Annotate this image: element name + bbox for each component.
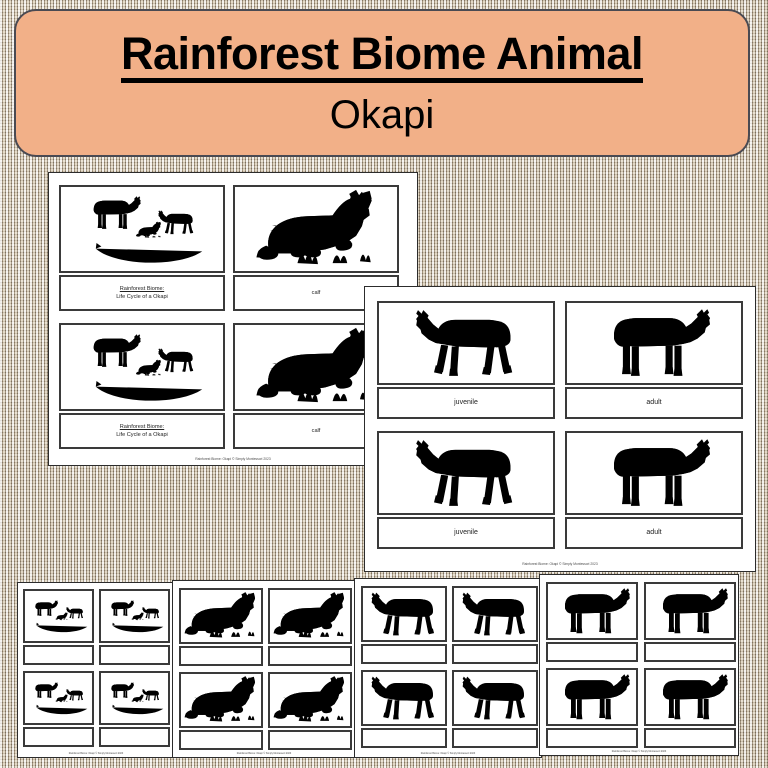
card-illustration-area	[567, 303, 741, 383]
card-illustration-area	[25, 591, 92, 641]
okapi-juvenile-illustration	[363, 588, 445, 640]
card-illustration-area	[181, 590, 261, 642]
picture-card[interactable]	[59, 185, 225, 273]
card-illustration-area	[61, 325, 223, 409]
card-illustration-area	[363, 588, 445, 640]
picture-card[interactable]	[268, 672, 352, 728]
picture-card[interactable]	[361, 586, 447, 642]
card-illustration-area	[646, 670, 734, 724]
picture-card[interactable]	[452, 586, 538, 642]
picture-card[interactable]	[565, 301, 743, 385]
okapi-adult-illustration	[567, 303, 741, 383]
card-illustration-area	[646, 584, 734, 638]
sheet-blackline-adult-sheet[interactable]: Rainforest Biome: Okapi © Simply Montess…	[539, 574, 739, 756]
sheet-color-life-cycle-sheet[interactable]: Rainforest Biome:Life Cycle of a Okapica…	[48, 172, 418, 466]
okapi-juvenile-illustration	[454, 672, 536, 724]
card-illustration-area	[181, 674, 261, 726]
label-card[interactable]	[546, 728, 638, 748]
label-card[interactable]	[361, 728, 447, 748]
card-illustration-area	[567, 433, 741, 513]
copyright-footer: Rainforest Biome: Okapi © Simply Montess…	[548, 750, 730, 753]
sheet-blackline-juvenile-sheet[interactable]: Rainforest Biome: Okapi © Simply Montess…	[354, 578, 542, 758]
picture-card[interactable]	[179, 672, 263, 728]
label-card[interactable]	[179, 646, 263, 666]
label-line-1: adult	[646, 528, 661, 539]
picture-card[interactable]	[546, 582, 638, 640]
label-line-1: juvenile	[454, 398, 478, 409]
okapi-calf-illustration	[270, 590, 350, 642]
picture-card[interactable]	[644, 582, 736, 640]
label-line-1: Rainforest Biome:	[120, 423, 164, 431]
label-card[interactable]	[361, 644, 447, 664]
card-illustration-area	[548, 670, 636, 724]
picture-card[interactable]	[268, 588, 352, 644]
picture-card[interactable]	[59, 323, 225, 411]
picture-card[interactable]	[99, 671, 170, 725]
label-card[interactable]	[546, 642, 638, 662]
sheet-blackline-calf-sheet[interactable]: Rainforest Biome: Okapi © Simply Montess…	[172, 580, 356, 758]
label-line-2: Life Cycle of a Okapi	[116, 431, 168, 439]
okapi-life-cycle-illustration	[101, 591, 168, 641]
card-illustration-area	[379, 433, 553, 513]
okapi-calf-illustration	[270, 674, 350, 726]
label-card[interactable]	[23, 727, 94, 747]
picture-card[interactable]	[233, 185, 399, 273]
copyright-footer: Rainforest Biome: Okapi © Simply Montess…	[362, 752, 533, 755]
okapi-juvenile-illustration	[379, 433, 553, 513]
label-card[interactable]	[452, 728, 538, 748]
label-line-1: calf	[312, 427, 321, 435]
page-subtitle: Okapi	[330, 95, 435, 135]
picture-card[interactable]	[179, 588, 263, 644]
copyright-footer: Rainforest Biome: Okapi © Simply Montess…	[64, 457, 403, 461]
picture-card[interactable]	[452, 670, 538, 726]
label-card[interactable]	[268, 646, 352, 666]
card-illustration-area	[101, 673, 168, 723]
card-illustration-area	[270, 674, 350, 726]
picture-card[interactable]	[361, 670, 447, 726]
label-card[interactable]	[644, 728, 736, 748]
okapi-life-cycle-illustration	[101, 673, 168, 723]
card-illustration-area	[379, 303, 553, 383]
card-illustration-area	[454, 588, 536, 640]
label-card[interactable]	[644, 642, 736, 662]
picture-card[interactable]	[23, 671, 94, 725]
page-title: Rainforest Biome Animal	[121, 31, 643, 84]
copyright-footer: Rainforest Biome: Okapi © Simply Montess…	[381, 562, 740, 566]
sheet-color-juvenile-adult-sheet[interactable]: juvenileadultjuvenileadultRainforest Bio…	[364, 286, 756, 572]
okapi-life-cycle-illustration	[25, 673, 92, 723]
card-illustration-area	[363, 672, 445, 724]
card-illustration-area	[548, 584, 636, 638]
card-illustration-area	[101, 591, 168, 641]
label-card[interactable]: adult	[565, 517, 743, 549]
card-illustration-area	[454, 672, 536, 724]
okapi-life-cycle-illustration	[61, 325, 223, 409]
picture-card[interactable]	[565, 431, 743, 515]
okapi-juvenile-illustration	[379, 303, 553, 383]
okapi-life-cycle-illustration	[61, 187, 223, 271]
label-card[interactable]	[268, 730, 352, 750]
okapi-adult-illustration	[567, 433, 741, 513]
card-illustration-area	[235, 187, 397, 271]
label-line-1: calf	[312, 289, 321, 297]
copyright-footer: Rainforest Biome: Okapi © Simply Montess…	[24, 752, 168, 755]
okapi-adult-illustration	[646, 670, 734, 724]
okapi-calf-illustration	[181, 590, 261, 642]
okapi-adult-illustration	[548, 670, 636, 724]
label-card[interactable]: Rainforest Biome:Life Cycle of a Okapi	[59, 413, 225, 449]
title-banner: Rainforest Biome Animal Okapi	[14, 9, 750, 157]
label-card[interactable]: Rainforest Biome:Life Cycle of a Okapi	[59, 275, 225, 311]
label-card[interactable]	[23, 645, 94, 665]
picture-card[interactable]	[644, 668, 736, 726]
label-card[interactable]: juvenile	[377, 387, 555, 419]
okapi-calf-illustration	[181, 674, 261, 726]
label-card[interactable]	[99, 645, 170, 665]
label-line-1: Rainforest Biome:	[120, 285, 164, 293]
picture-card[interactable]	[546, 668, 638, 726]
label-line-1: adult	[646, 398, 661, 409]
okapi-calf-illustration	[235, 187, 397, 271]
picture-card[interactable]	[377, 301, 555, 385]
label-line-2: Life Cycle of a Okapi	[116, 293, 168, 301]
okapi-juvenile-illustration	[363, 672, 445, 724]
okapi-life-cycle-illustration	[25, 591, 92, 641]
picture-card[interactable]	[99, 589, 170, 643]
label-card[interactable]	[179, 730, 263, 750]
okapi-adult-illustration	[548, 584, 636, 638]
label-card[interactable]	[99, 727, 170, 747]
copyright-footer: Rainforest Biome: Okapi © Simply Montess…	[180, 752, 347, 755]
picture-card[interactable]	[377, 431, 555, 515]
card-illustration-area	[270, 590, 350, 642]
picture-card[interactable]	[23, 589, 94, 643]
label-card[interactable]	[452, 644, 538, 664]
okapi-adult-illustration	[646, 584, 734, 638]
okapi-juvenile-illustration	[454, 588, 536, 640]
card-illustration-area	[25, 673, 92, 723]
sheet-blackline-life-cycle-sheet[interactable]: Rainforest Biome: Okapi © Simply Montess…	[17, 582, 175, 758]
label-card[interactable]: juvenile	[377, 517, 555, 549]
label-card[interactable]: adult	[565, 387, 743, 419]
label-line-1: juvenile	[454, 528, 478, 539]
card-illustration-area	[61, 187, 223, 271]
